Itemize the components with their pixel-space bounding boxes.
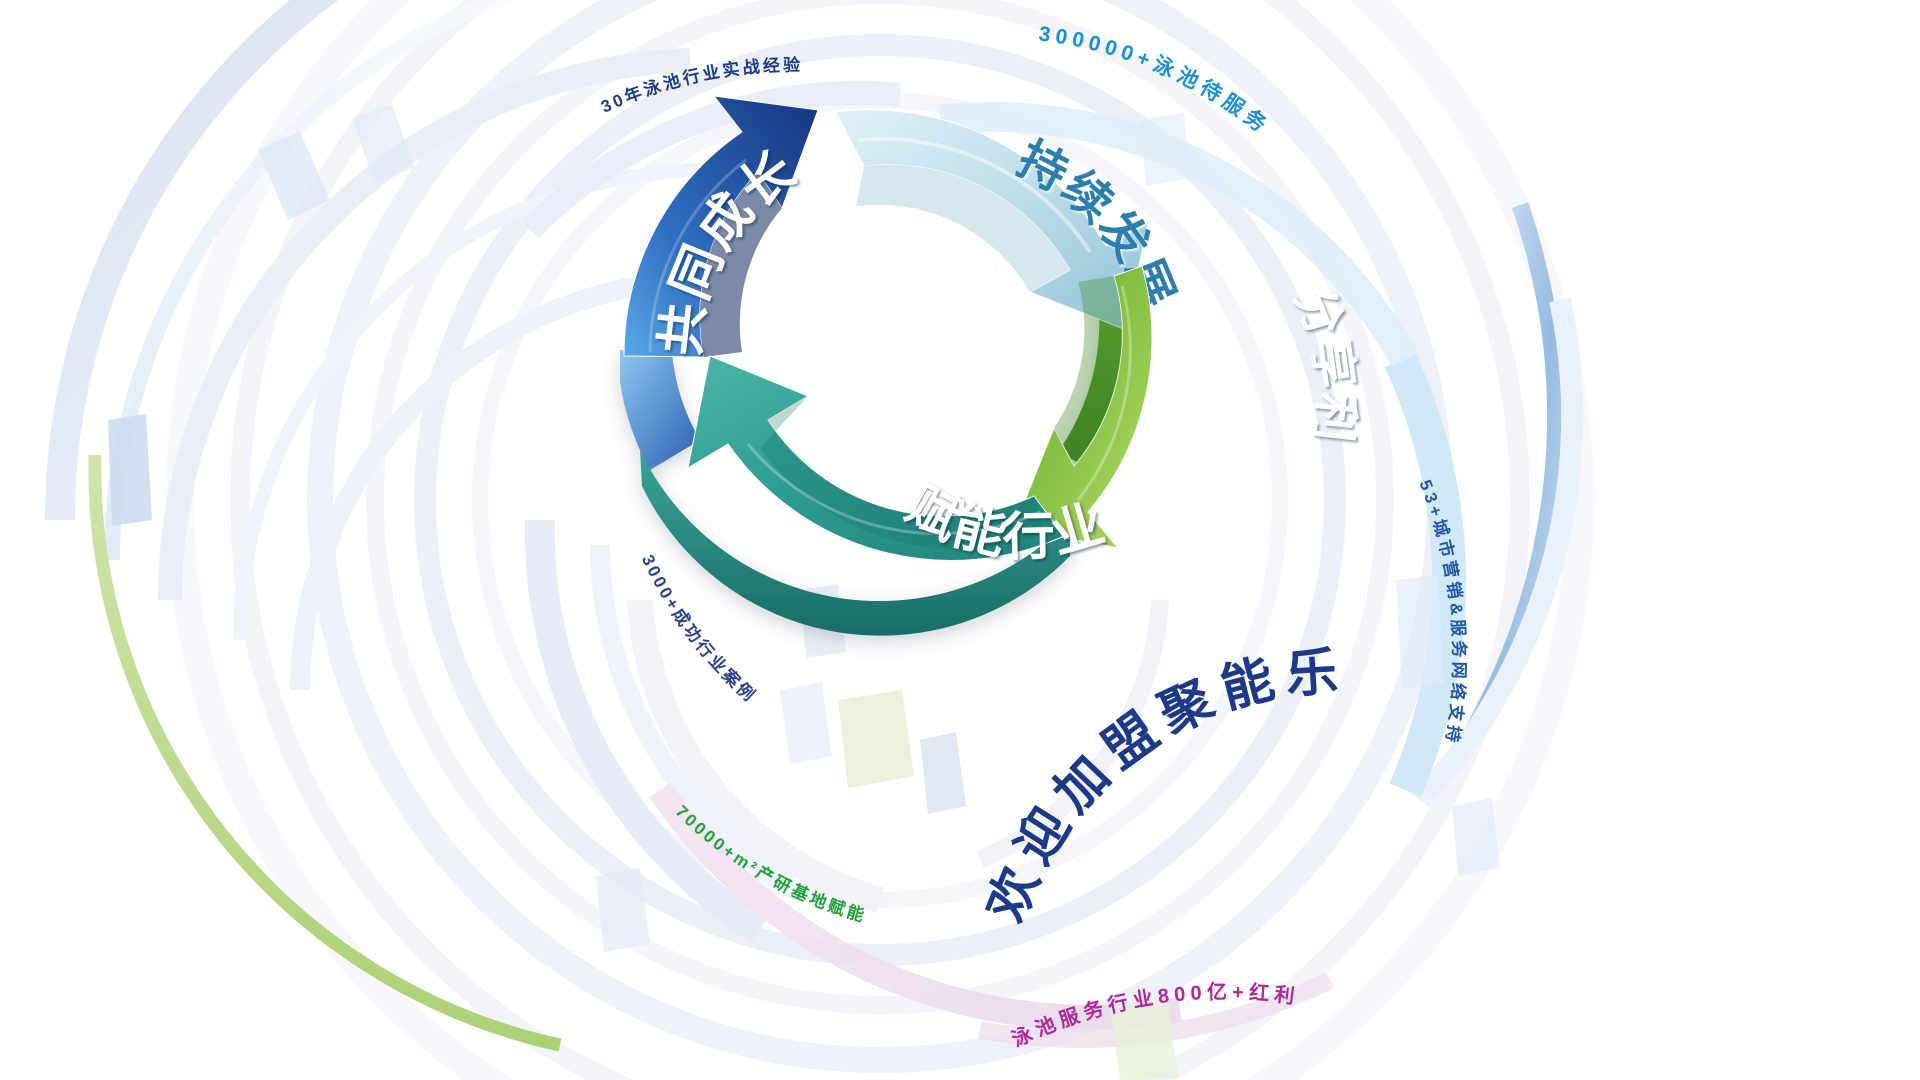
annotation-dividend: 泳池服务行业800亿+红利 <box>1008 979 1301 1051</box>
annotation-base: 70000+m²产研基地赋能 <box>672 802 870 926</box>
annotation-network: 53+城市营销&服务网络支持 <box>1415 477 1469 747</box>
annotation-labels: 30年泳池行业实战经验 300000+泳池待服务 53+城市营销&服务网络支持 … <box>0 0 1920 1080</box>
infographic-canvas: 共同成长 持续发展 分享利益 赋能行业 <box>0 0 1920 1080</box>
annotation-pools: 300000+泳池待服务 <box>1037 22 1274 139</box>
annotation-experience: 30年泳池行业实战经验 <box>598 55 803 117</box>
annotation-cases: 3000+成功行业案例 <box>638 552 761 707</box>
annotation-join: 欢迎加盟聚能乐 <box>977 643 1350 931</box>
